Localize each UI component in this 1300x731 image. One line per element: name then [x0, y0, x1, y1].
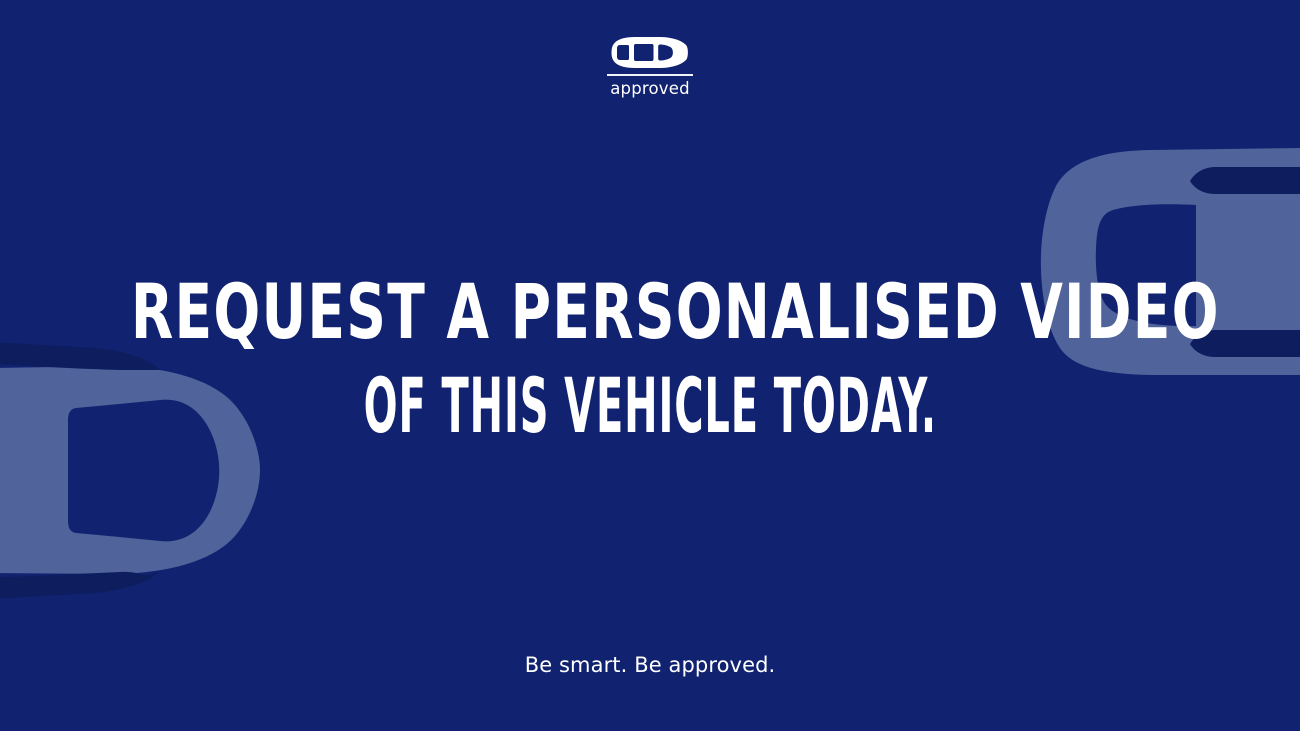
- tagline: Be smart. Be approved.: [0, 655, 1300, 676]
- headline: REQUEST A PERSONALISED VIDEO OF THIS VEH…: [0, 272, 1300, 446]
- headline-line-2: OF THIS VEHICLE TODAY.: [363, 366, 936, 446]
- brand-logo: approved: [0, 36, 1300, 98]
- headline-line-1: REQUEST A PERSONALISED VIDEO: [131, 272, 1220, 352]
- promo-banner: approved REQUEST A PERSONALISED VIDEO OF…: [0, 0, 1300, 731]
- approved-car-icon: [611, 36, 689, 69]
- brand-divider: [607, 74, 693, 76]
- brand-wordmark: approved: [610, 81, 690, 98]
